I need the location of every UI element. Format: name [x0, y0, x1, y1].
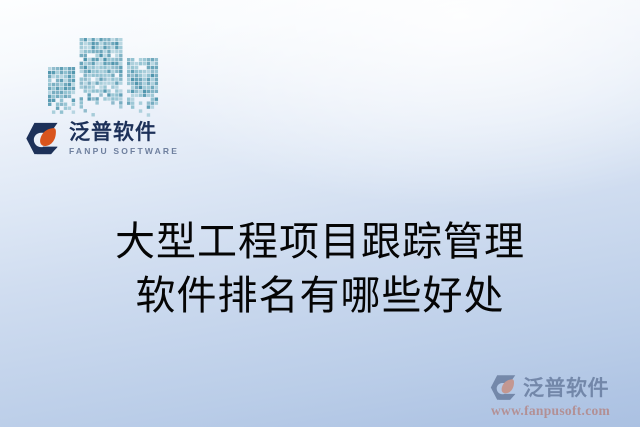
page-title-line-1: 大型工程项目跟踪管理	[0, 215, 640, 269]
pixel-buildings-icon	[48, 34, 164, 122]
fanpu-hexagon-logo-icon	[489, 373, 518, 402]
watermark-url: www.fanpusoft.com	[491, 403, 610, 419]
promo-banner: 泛普软件 FANPU SOFTWARE 大型工程项目跟踪管理 软件排名有哪些好处…	[0, 0, 640, 427]
watermark-logo-row: 泛普软件	[489, 372, 609, 402]
brand-logo-text: 泛普软件 FANPU SOFTWARE	[69, 122, 179, 156]
page-title-line-2: 软件排名有哪些好处	[0, 269, 640, 323]
watermark: 泛普软件 www.fanpusoft.com	[489, 372, 634, 419]
brand-name-cn: 泛普软件	[69, 122, 179, 143]
page-title: 大型工程项目跟踪管理 软件排名有哪些好处	[0, 215, 640, 323]
brand-logo: 泛普软件 FANPU SOFTWARE	[24, 120, 179, 157]
brand-name-en: FANPU SOFTWARE	[69, 147, 179, 156]
fanpu-hexagon-logo-icon	[24, 120, 61, 157]
watermark-brand-name: 泛普软件	[523, 372, 609, 402]
